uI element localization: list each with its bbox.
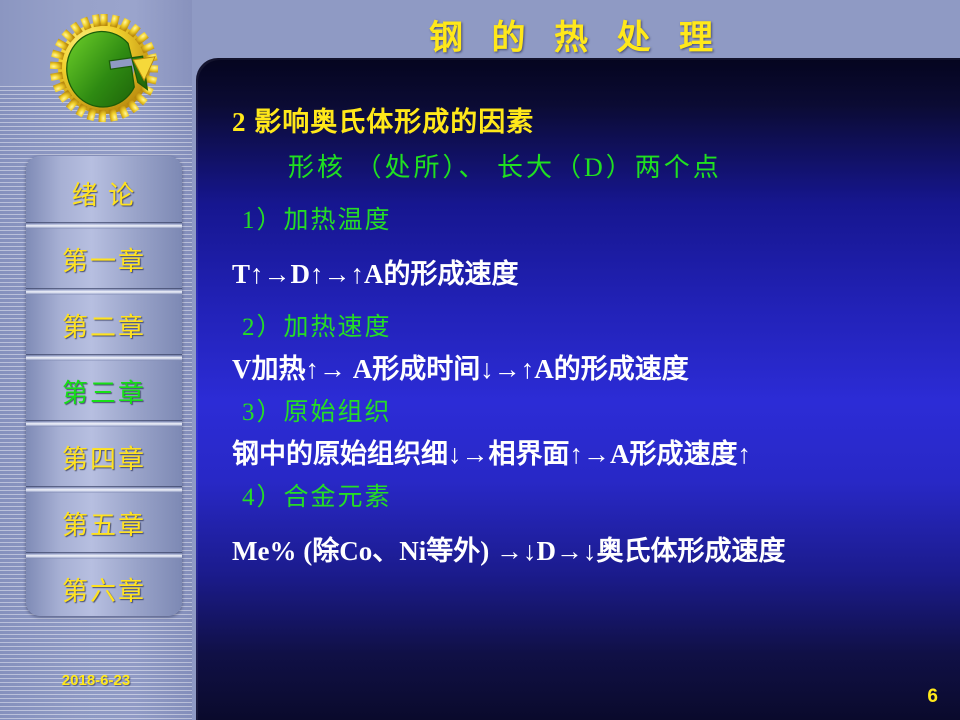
date-stamp: 2018-6-23	[0, 660, 192, 700]
date-text: 2018-6-23	[62, 672, 130, 689]
sidebar-item-intro[interactable]: 绪 论	[26, 160, 182, 226]
sidebar-item-label: 第三章	[62, 373, 146, 410]
page-title-text: 钢 的 热 处 理	[429, 10, 723, 59]
sidebar-item-label: 绪 论	[72, 175, 137, 212]
gear-g-logo	[44, 8, 164, 128]
sidebar-item-chapter-3[interactable]: 第三章	[26, 358, 182, 424]
sidebar-item-chapter-6[interactable]: 第六章	[26, 556, 182, 616]
factor-2-heading: 2）加热速度	[242, 307, 942, 343]
factor-2-body: V加热↑→ A形成时间↓→↑A的形成速度	[232, 347, 942, 386]
factor-3-body: 钢中的原始组织细↓→相界面↑→A形成速度↑	[232, 432, 942, 471]
sidebar-item-label: 第四章	[62, 439, 146, 476]
page-title: 钢 的 热 处 理	[192, 6, 960, 62]
content-body: 2 影响奥氏体形成的因素 形核 （处所）、 长大（D）两个点 1）加热温度 T↑…	[196, 58, 960, 720]
page-number: 6	[927, 686, 938, 708]
factor-4-heading: 4）合金元素	[242, 477, 942, 513]
sidebar-item-label: 第五章	[62, 505, 146, 542]
sidebar-item-chapter-5[interactable]: 第五章	[26, 490, 182, 556]
content-heading: 2 影响奥氏体形成的因素	[232, 100, 942, 139]
content-panel: 2 影响奥氏体形成的因素 形核 （处所）、 长大（D）两个点 1）加热温度 T↑…	[196, 58, 960, 720]
content-subheading: 形核 （处所）、 长大（D）两个点	[288, 147, 942, 184]
sidebar-item-label: 第二章	[62, 307, 146, 344]
factor-1-heading: 1）加热温度	[242, 200, 942, 236]
factor-1-body: T↑→D↑→↑A的形成速度	[232, 252, 942, 291]
sidebar-item-chapter-1[interactable]: 第一章	[26, 226, 182, 292]
sidebar-item-chapter-4[interactable]: 第四章	[26, 424, 182, 490]
chapter-nav-panel: 绪 论 第一章 第二章 第三章 第四章 第五章 第六章	[26, 156, 182, 616]
slide-root: 绪 论 第一章 第二章 第三章 第四章 第五章 第六章 2018-6-23 钢 …	[0, 0, 960, 720]
factor-4-body: Me% (除Co、Ni等外) →↓D→↓奥氏体形成速度	[232, 529, 942, 568]
sidebar-item-chapter-2[interactable]: 第二章	[26, 292, 182, 358]
sidebar-item-label: 第六章	[62, 571, 146, 608]
factor-3-heading: 3）原始组织	[242, 392, 942, 428]
sidebar-item-label: 第一章	[62, 241, 146, 278]
